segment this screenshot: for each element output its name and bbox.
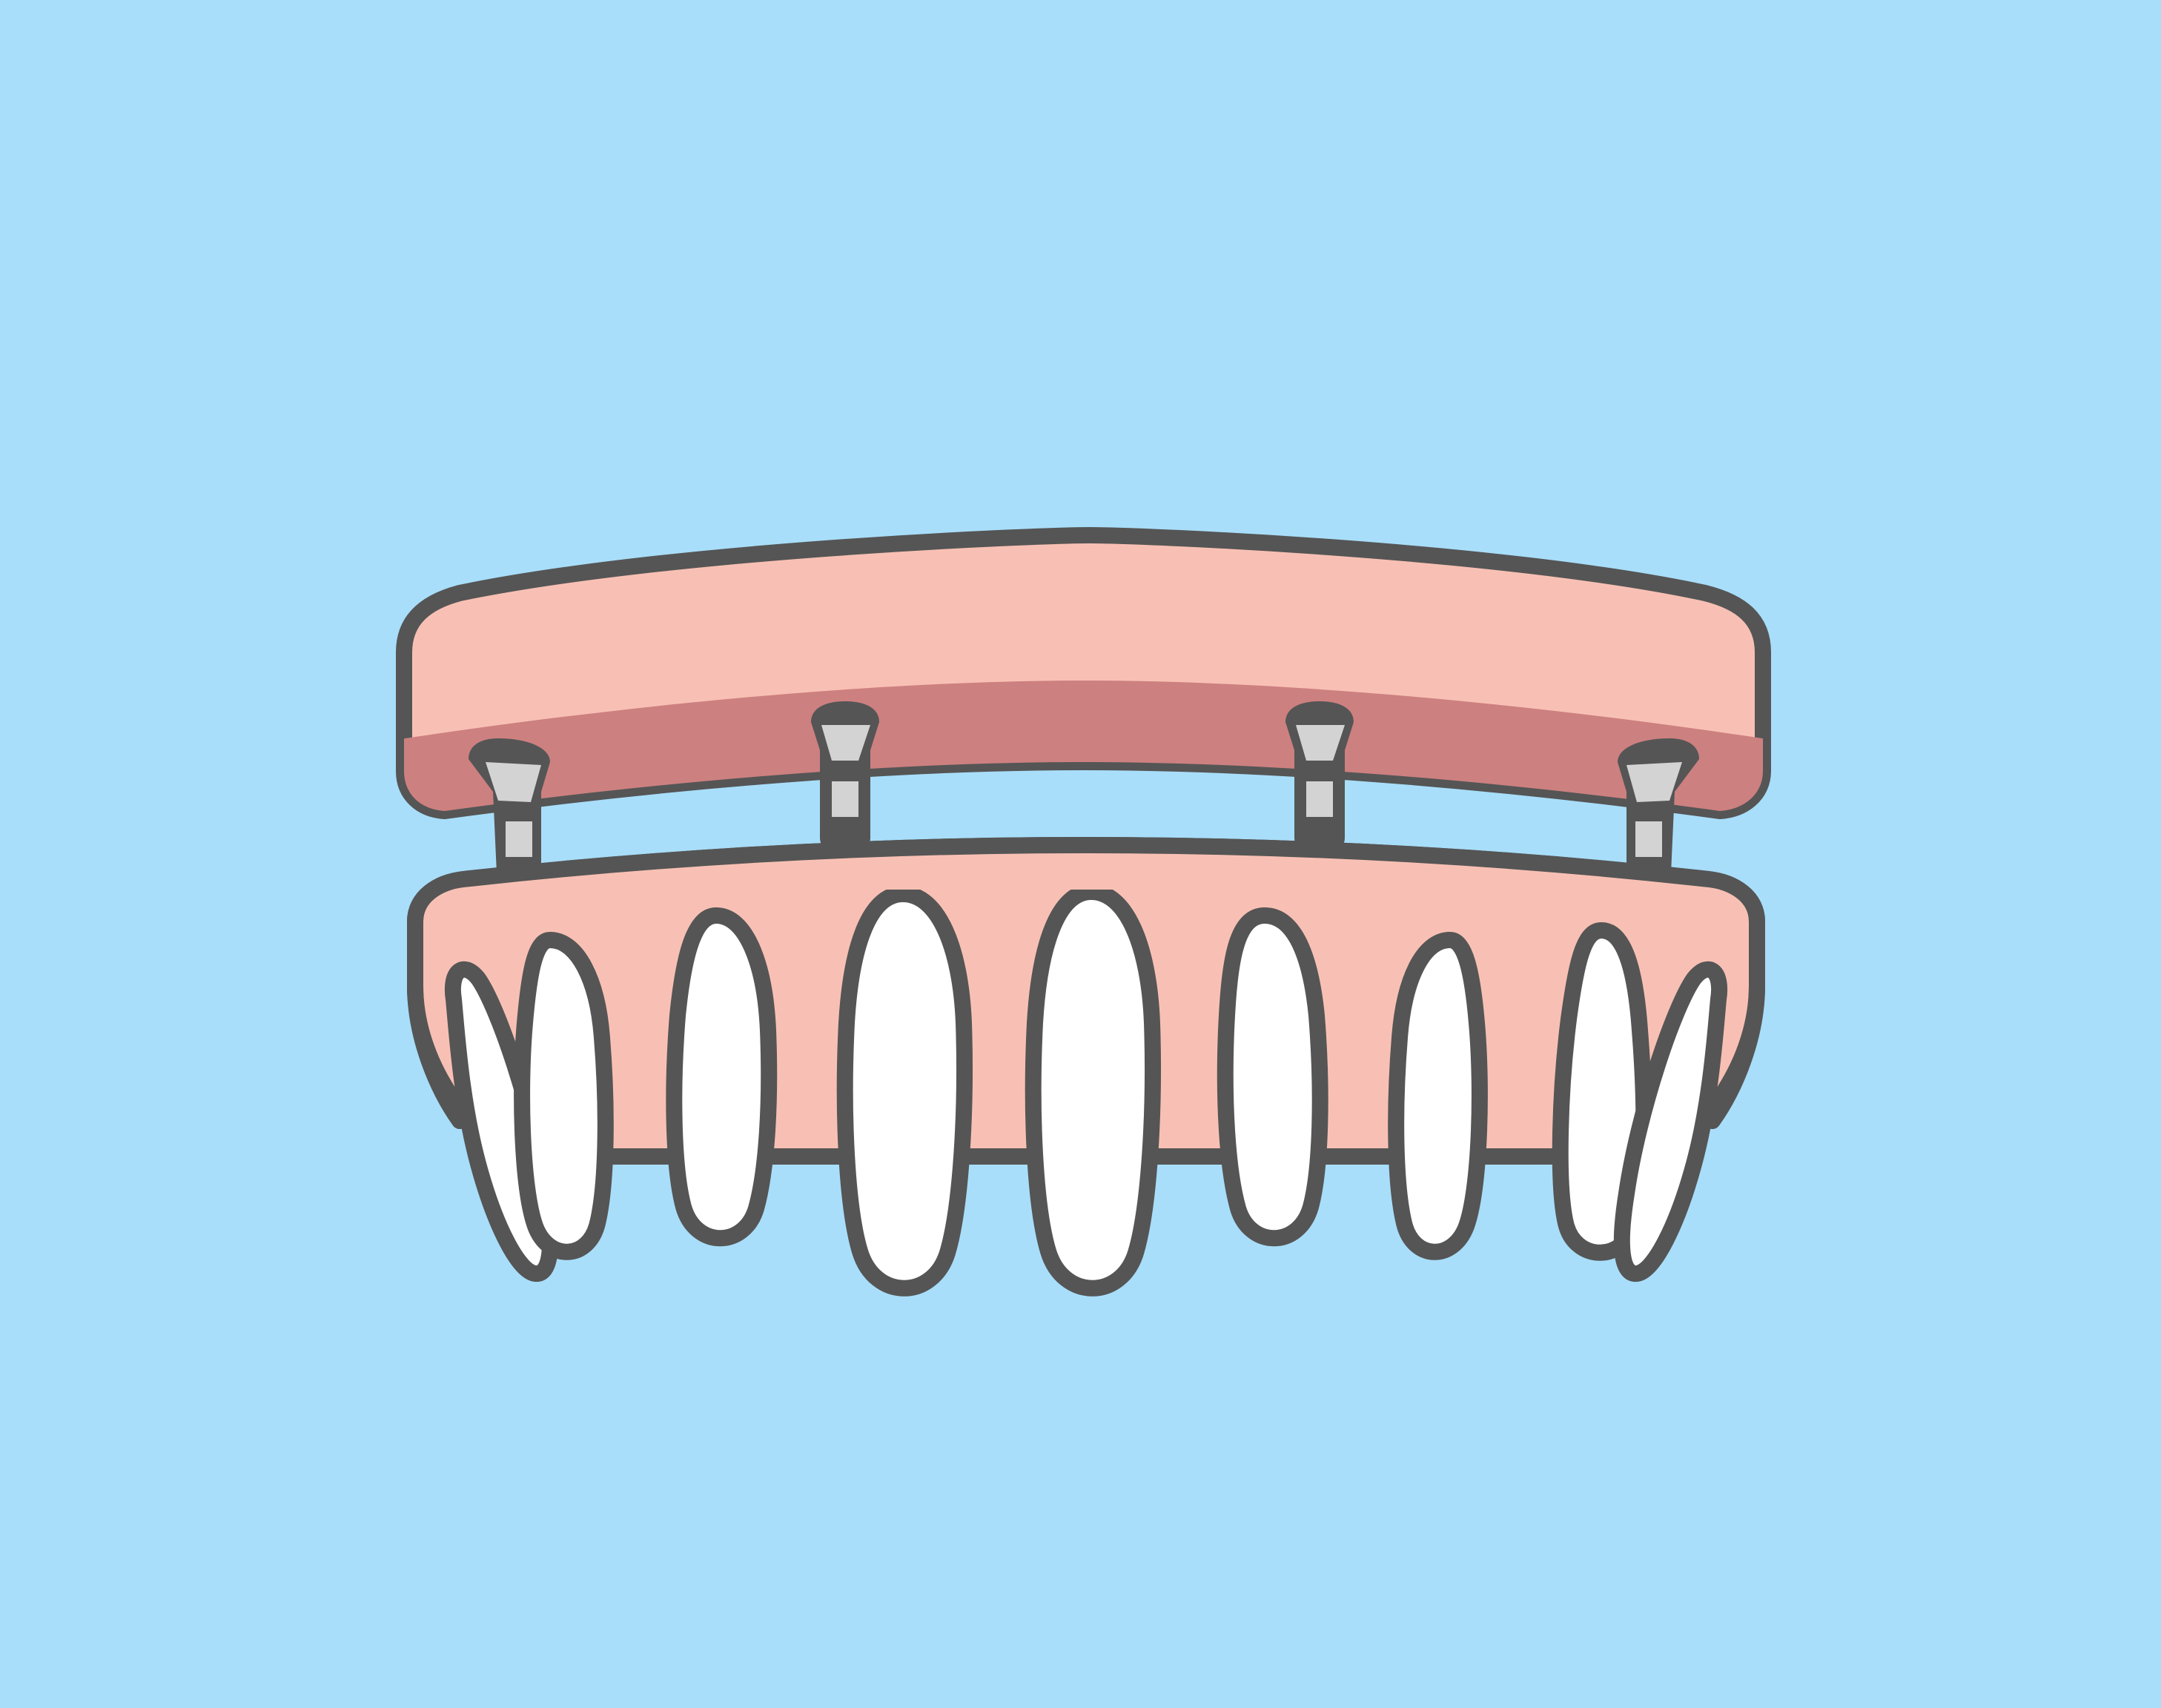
implant-abutment-2-body (811, 701, 879, 853)
all-on-4-implant-illustration (0, 0, 2161, 1708)
tooth-1 (522, 940, 606, 1252)
implant-abutment-3-screw-inlay (1306, 781, 1333, 817)
implant-abutment-4-screw-inlay (1635, 821, 1662, 857)
illustration-canvas: All-on-4 implant ILLUSTRATION DESIGN (0, 0, 2161, 1708)
implant-abutment-3-body (1285, 701, 1354, 853)
implant-abutment-3 (1285, 701, 1354, 853)
implant-abutment-2 (811, 701, 879, 853)
implant-abutment-1-screw-inlay (506, 821, 532, 857)
tooth-5 (1225, 916, 1320, 1238)
tooth-2 (674, 916, 769, 1238)
tooth-6 (1396, 940, 1480, 1252)
tooth-4 (1033, 892, 1153, 1288)
tooth-3 (845, 894, 964, 1288)
implant-abutment-2-screw-inlay (832, 781, 858, 817)
